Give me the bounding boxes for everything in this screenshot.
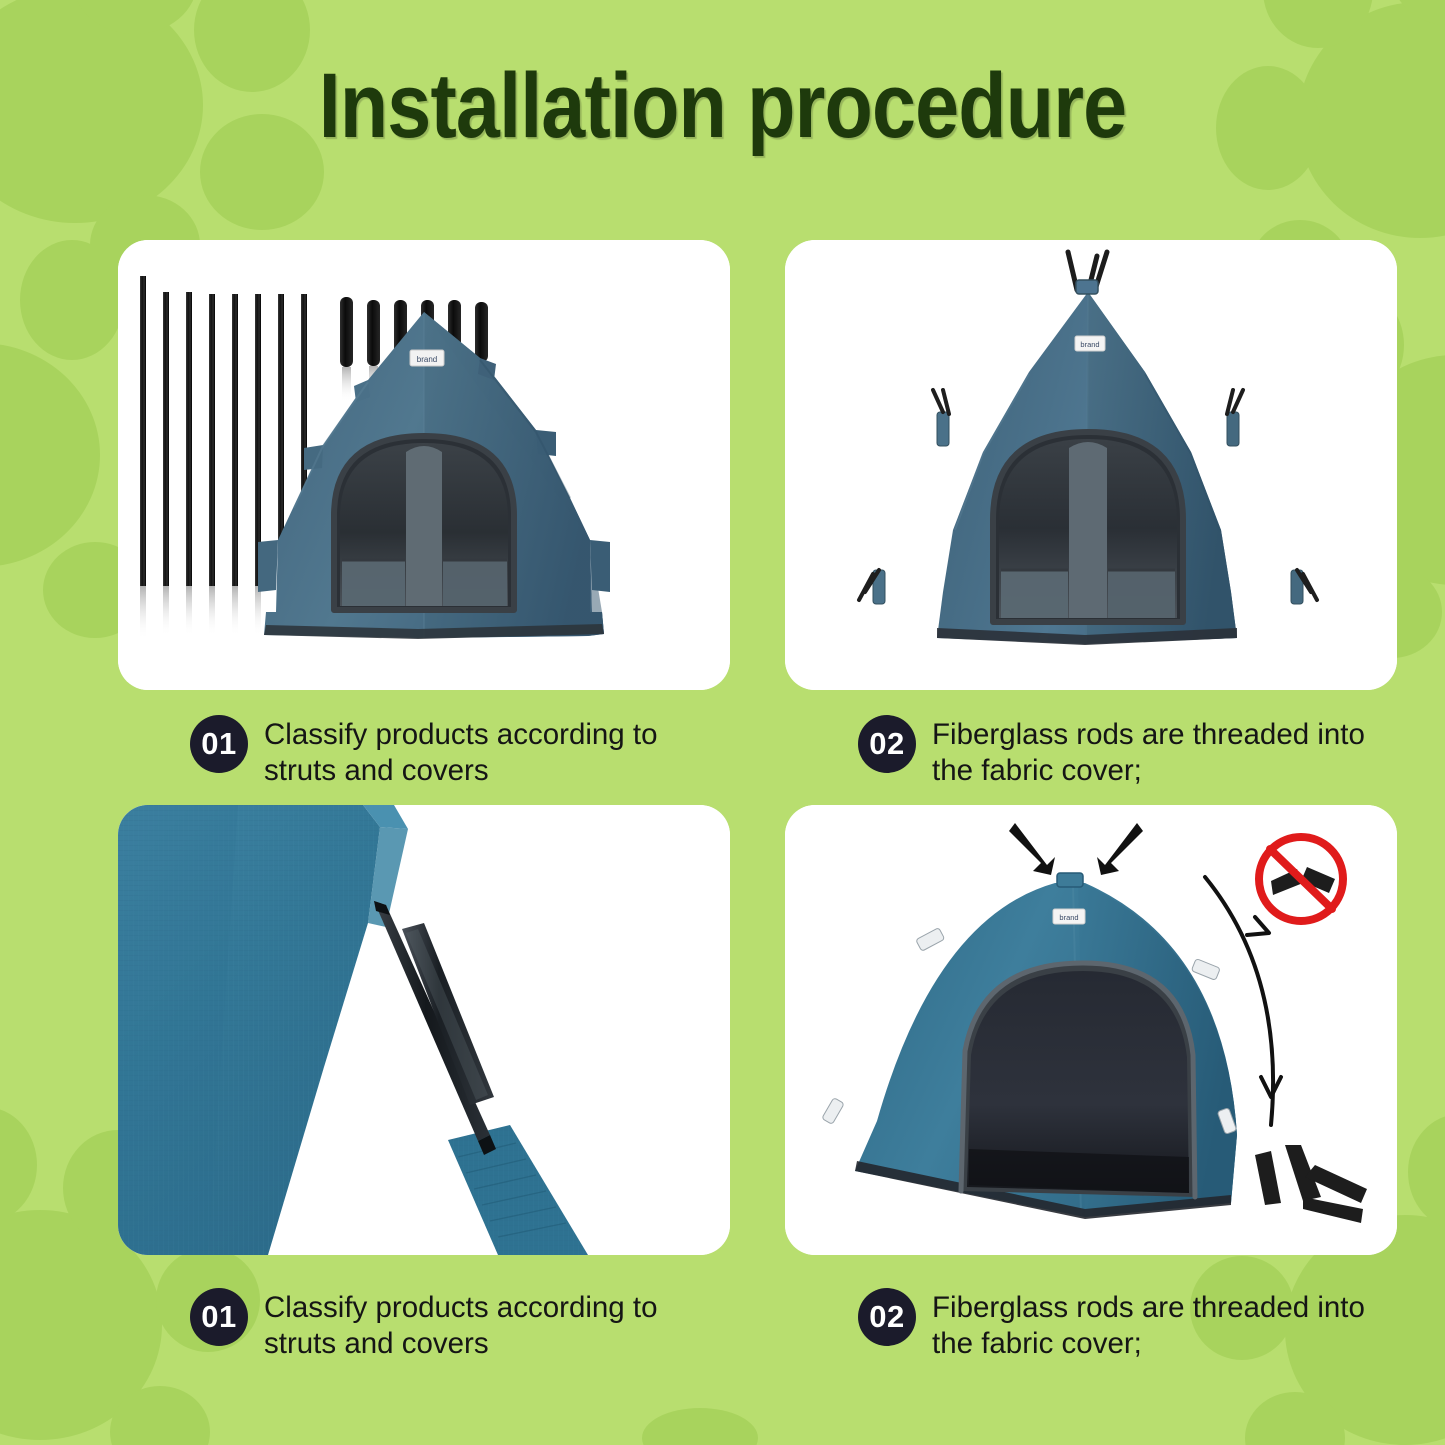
rod-connector-closeup-illustration [118, 805, 730, 1255]
step-caption-text: Classify products according to struts an… [264, 717, 724, 789]
step-image-card-4: brand [785, 805, 1397, 1255]
page-title: Installation procedure [101, 60, 1344, 152]
svg-text:brand: brand [1059, 913, 1078, 922]
step-caption-text: Fiberglass rods are threaded into the fa… [932, 1290, 1392, 1362]
svg-text:brand: brand [1080, 340, 1099, 349]
rods-threaded-illustration: brand [785, 240, 1397, 690]
step-caption-1: 01 Classify products according to struts… [190, 715, 724, 789]
step-caption-text: Classify products according to struts an… [264, 1290, 724, 1362]
step-image-card-2: brand [785, 240, 1397, 690]
step-caption-3: 01 Classify products according to struts… [190, 1288, 724, 1362]
step-number-badge: 02 [858, 715, 916, 773]
step-caption-4: 02 Fiberglass rods are threaded into the… [858, 1288, 1392, 1362]
step-caption-2: 02 Fiberglass rods are threaded into the… [858, 715, 1392, 789]
svg-text:brand: brand [417, 355, 437, 364]
assembled-tent-warning-illustration: brand [785, 805, 1397, 1255]
tent-parts-illustration: brand [118, 240, 730, 690]
step-number-badge: 02 [858, 1288, 916, 1346]
step-number-badge: 01 [190, 1288, 248, 1346]
step-image-card-1: brand [118, 240, 730, 690]
step-caption-text: Fiberglass rods are threaded into the fa… [932, 717, 1392, 789]
step-image-card-3 [118, 805, 730, 1255]
step-number-badge: 01 [190, 715, 248, 773]
